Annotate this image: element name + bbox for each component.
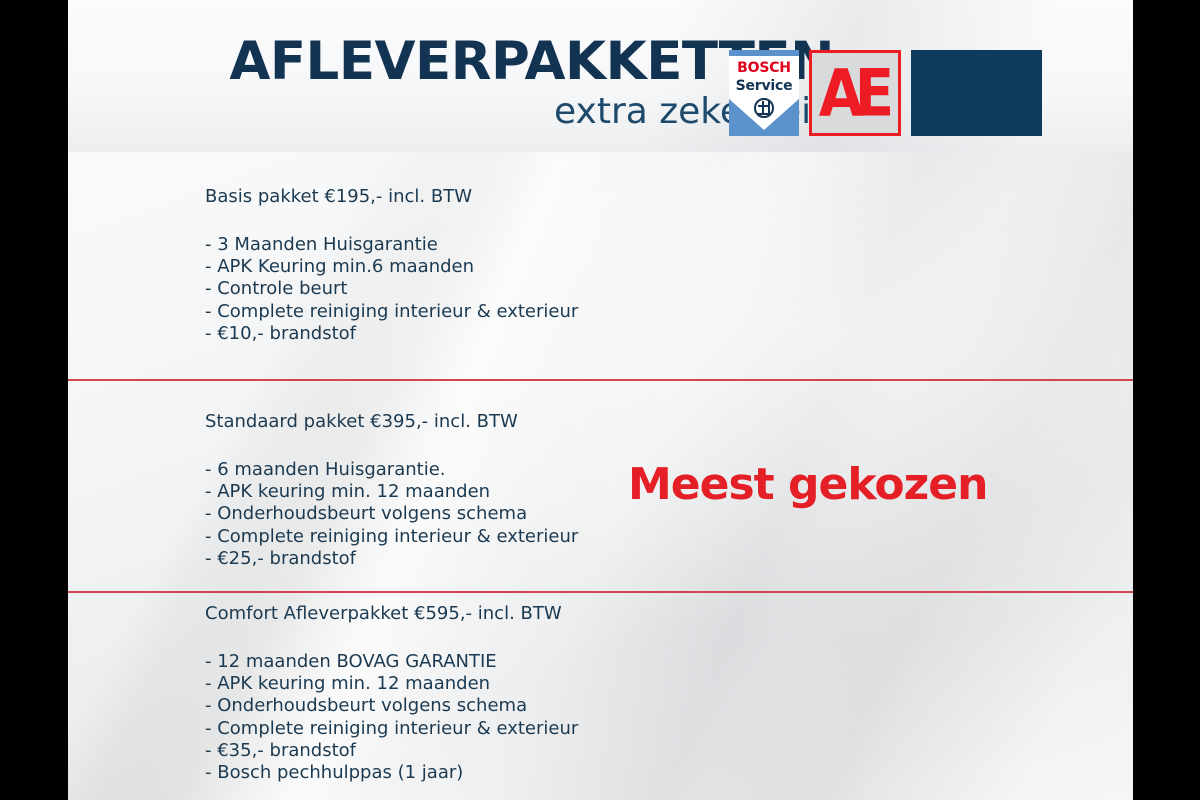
bosch-armature-icon bbox=[754, 98, 774, 118]
list-item: - APK keuring min. 12 maanden bbox=[205, 673, 578, 695]
package-feature-list: - 6 maanden Huisgarantie. - APK keuring … bbox=[205, 459, 578, 570]
bosch-wordmark: BOSCH bbox=[729, 60, 799, 76]
list-item: - 6 maanden Huisgarantie. bbox=[205, 459, 578, 481]
logo-row: BOSCH Service AE bbox=[729, 50, 1042, 136]
package-heading: Comfort Afleverpakket €595,- incl. BTW bbox=[205, 603, 578, 625]
bosch-service-logo: BOSCH Service bbox=[729, 50, 799, 136]
package-section-comfort: Comfort Afleverpakket €595,- incl. BTW -… bbox=[68, 591, 1133, 800]
most-chosen-badge: Meest gekozen bbox=[628, 461, 987, 509]
package-text-block: Comfort Afleverpakket €595,- incl. BTW -… bbox=[205, 603, 578, 784]
list-item: - Complete reiniging interieur & exterie… bbox=[205, 718, 578, 740]
navy-logo-block bbox=[911, 50, 1042, 136]
list-item: - Complete reiniging interieur & exterie… bbox=[205, 526, 578, 548]
list-item: - €10,- brandstof bbox=[205, 323, 578, 345]
package-text-block: Standaard pakket €395,- incl. BTW - 6 ma… bbox=[205, 411, 578, 570]
slide-frame: AFLEVERPAKKETTEN extra zekerheid BOSCH S… bbox=[0, 0, 1200, 800]
list-item: - APK keuring min. 12 maanden bbox=[205, 481, 578, 503]
ae-logo: AE bbox=[809, 50, 901, 136]
package-text-block: Basis pakket €195,- incl. BTW - 3 Maande… bbox=[205, 186, 578, 345]
package-heading: Standaard pakket €395,- incl. BTW bbox=[205, 411, 578, 433]
section-divider-top bbox=[68, 591, 1133, 593]
slide-canvas: AFLEVERPAKKETTEN extra zekerheid BOSCH S… bbox=[68, 0, 1133, 800]
list-item: - APK Keuring min.6 maanden bbox=[205, 256, 578, 278]
list-item: - Complete reiniging interieur & exterie… bbox=[205, 301, 578, 323]
list-item: - €25,- brandstof bbox=[205, 548, 578, 570]
section-divider-top bbox=[68, 379, 1133, 381]
list-item: - €35,- brandstof bbox=[205, 740, 578, 762]
package-section-basis: Basis pakket €195,- incl. BTW - 3 Maande… bbox=[68, 152, 1133, 379]
package-heading: Basis pakket €195,- incl. BTW bbox=[205, 186, 578, 208]
bosch-service-label: Service bbox=[729, 78, 799, 94]
package-feature-list: - 3 Maanden Huisgarantie - APK Keuring m… bbox=[205, 234, 578, 345]
ae-wordmark: AE bbox=[819, 61, 886, 126]
package-section-standaard: Standaard pakket €395,- incl. BTW - 6 ma… bbox=[68, 379, 1133, 591]
header-band: AFLEVERPAKKETTEN extra zekerheid BOSCH S… bbox=[68, 0, 1133, 152]
list-item: - Bosch pechhulppas (1 jaar) bbox=[205, 762, 578, 784]
list-item: - Onderhoudsbeurt volgens schema bbox=[205, 695, 578, 717]
list-item: - Onderhoudsbeurt volgens schema bbox=[205, 503, 578, 525]
list-item: - 3 Maanden Huisgarantie bbox=[205, 234, 578, 256]
list-item: - 12 maanden BOVAG GARANTIE bbox=[205, 651, 578, 673]
package-feature-list: - 12 maanden BOVAG GARANTIE - APK keurin… bbox=[205, 651, 578, 784]
list-item: - Controle beurt bbox=[205, 278, 578, 300]
